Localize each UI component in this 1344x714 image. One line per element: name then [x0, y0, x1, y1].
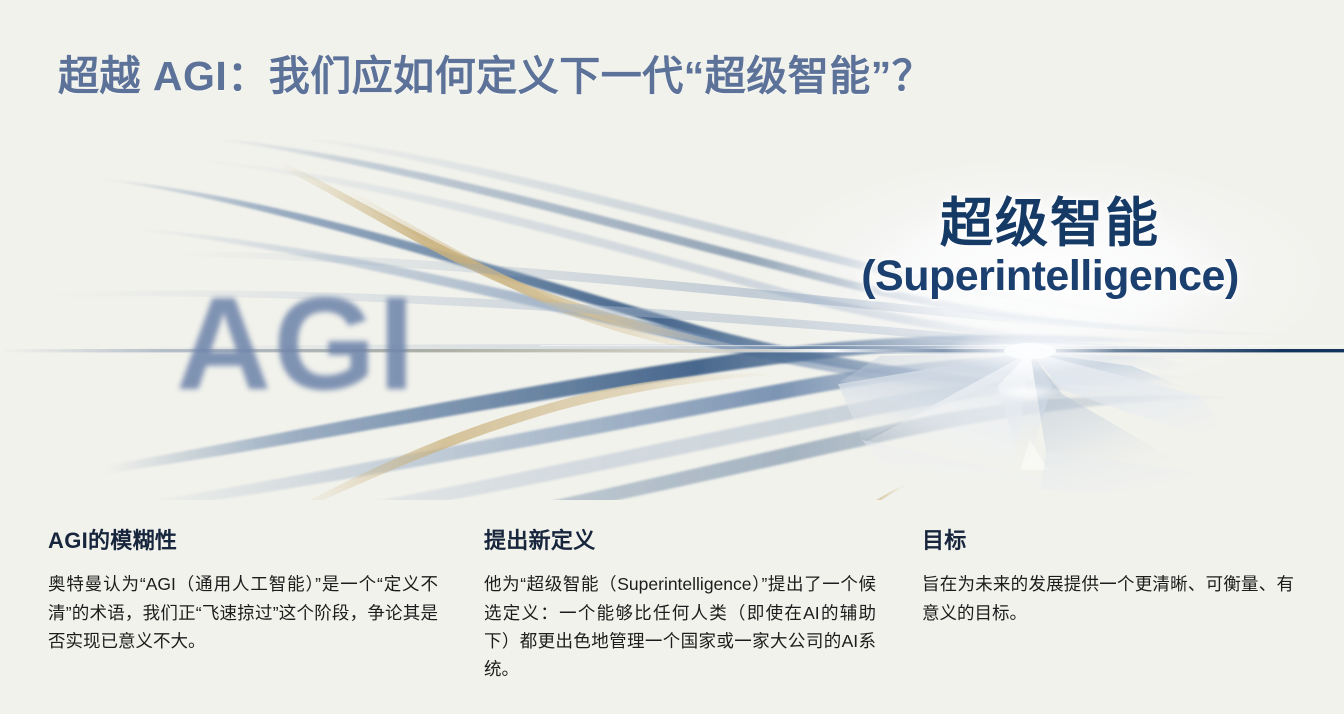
column-body: 旨在为未来的发展提供一个更清晰、可衡量、有意义的目标。 — [922, 570, 1294, 627]
page-title: 超越 AGI：我们应如何定义下一代“超级智能”？ — [58, 42, 933, 102]
horizon-line — [0, 349, 1344, 352]
crystal-burst — [838, 352, 1240, 496]
slide-canvas: 超越 AGI：我们应如何定义下一代“超级智能”？ — [0, 0, 1344, 714]
hero-illustration: AGI — [0, 140, 1344, 500]
summary-column-3: 目标 旨在为未来的发展提供一个更清晰、可衡量、有意义的目标。 — [922, 528, 1294, 627]
illustration-svg — [0, 140, 1344, 500]
column-body: 奥特曼认为“AGI（通用人工智能）”是一个“定义不清”的术语，我们正“飞速掠过”… — [48, 570, 438, 655]
column-heading: 提出新定义 — [484, 528, 876, 554]
summary-column-1: AGI的模糊性 奥特曼认为“AGI（通用人工智能）”是一个“定义不清”的术语，我… — [48, 528, 438, 655]
spark-glow-secondary — [992, 383, 1060, 401]
summary-columns: AGI的模糊性 奥特曼认为“AGI（通用人工智能）”是一个“定义不清”的术语，我… — [0, 528, 1344, 714]
column-heading: AGI的模糊性 — [48, 528, 438, 554]
column-heading: 目标 — [922, 528, 1294, 554]
column-body: 他为“超级智能（Superintelligence）”提出了一个候选定义：一个能… — [484, 570, 876, 683]
summary-column-2: 提出新定义 他为“超级智能（Superintelligence）”提出了一个候选… — [484, 528, 876, 684]
